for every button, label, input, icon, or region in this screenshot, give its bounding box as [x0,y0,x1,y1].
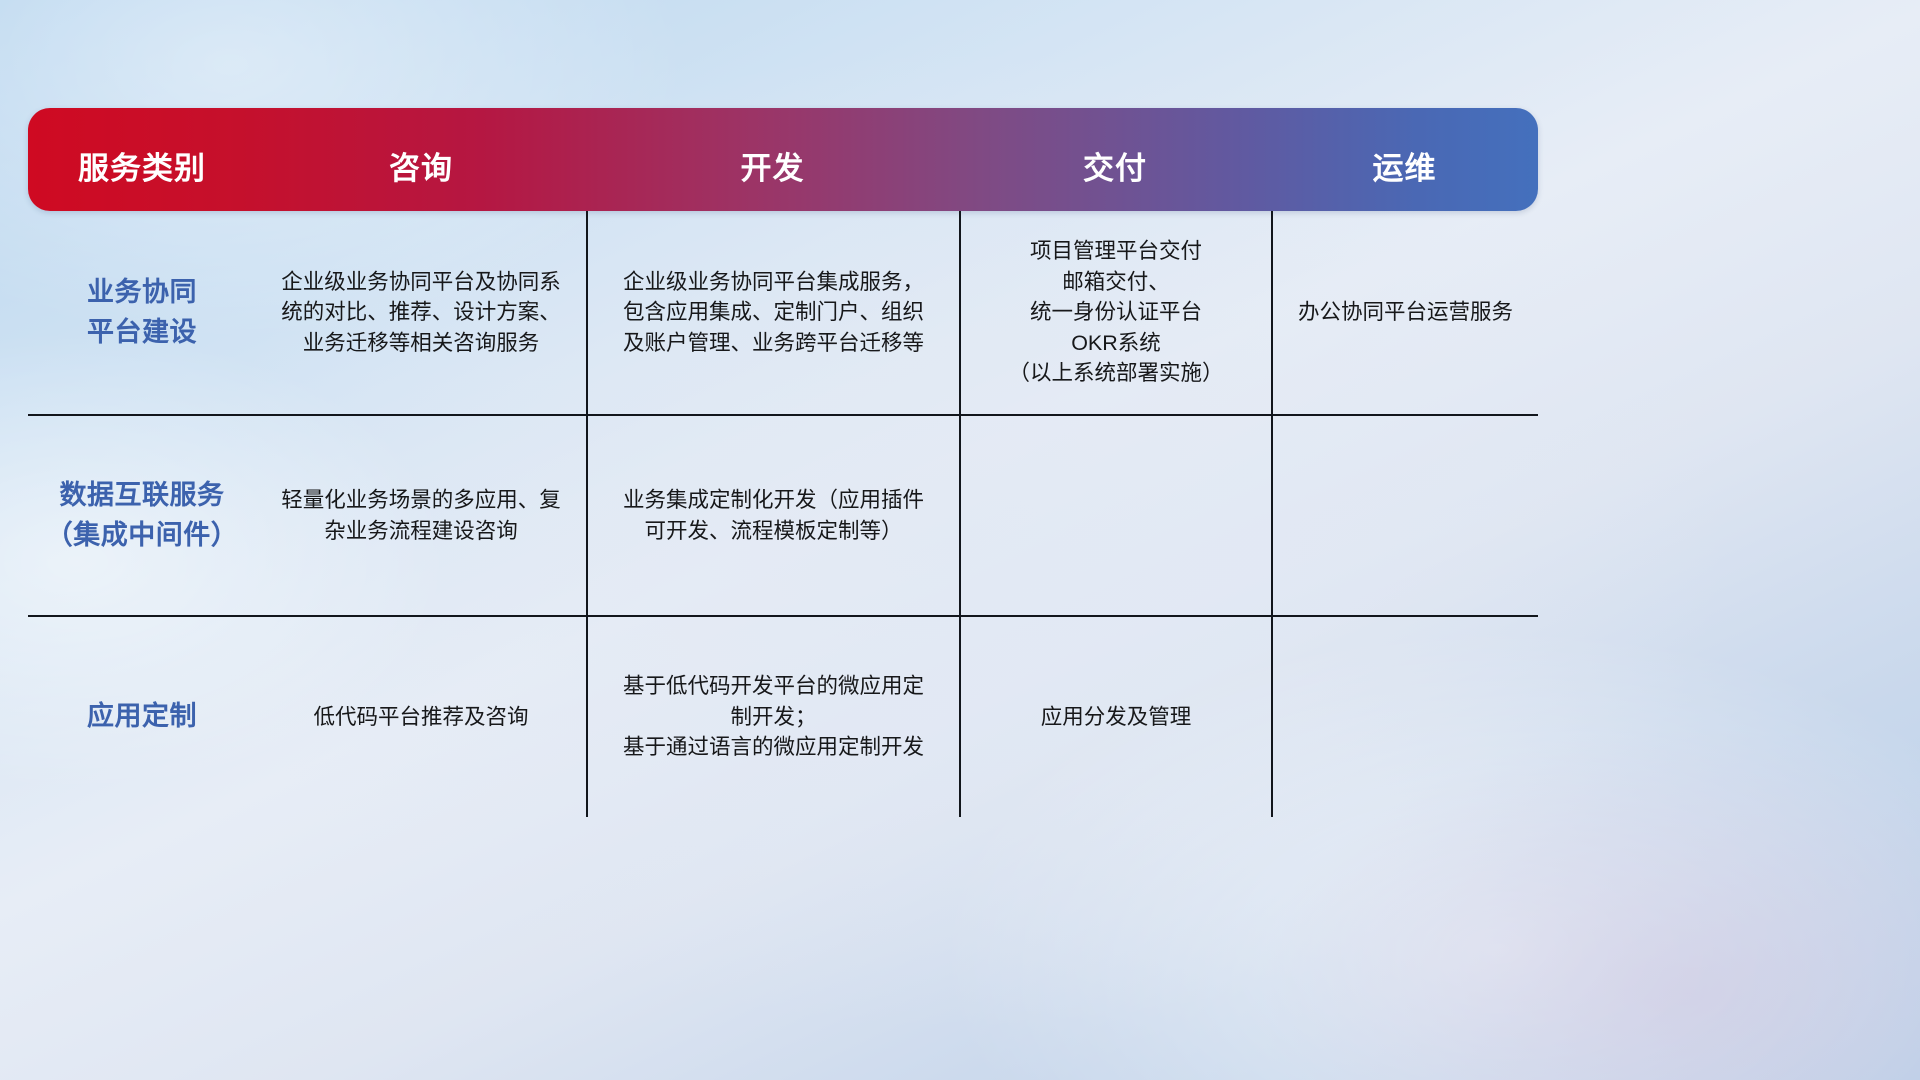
row-label: 业务协同 平台建设 [87,273,197,351]
table-row: 业务协同 平台建设 企业级业务协同平台及协同系 统的对比、推荐、设计方案、 业务… [28,211,1538,414]
cell-operations [1271,414,1538,615]
cell-development: 基于低代码开发平台的微应用定 制开发； 基于通过语言的微应用定制开发 [586,615,959,817]
cell-text: 企业级业务协同平台及协同系 统的对比、推荐、设计方案、 业务迁移等相关咨询服务 [281,267,561,359]
row-label: 应用定制 [87,697,197,736]
cell-delivery [959,414,1271,615]
table-row: 数据互联服务 （集成中间件） 轻量化业务场景的多应用、复 杂业务流程建设咨询 业… [28,414,1538,615]
row-label: 数据互联服务 （集成中间件） [46,476,239,554]
row-label-cell: 应用定制 [28,615,256,817]
cell-text: 办公协同平台运营服务 [1298,297,1513,328]
cell-delivery: 项目管理平台交付 邮箱交付、 统一身份认证平台 OKR系统 （以上系统部署实施） [959,211,1271,414]
table-header-row: 服务类别 咨询 开发 交付 运维 [28,108,1538,211]
cell-consulting: 轻量化业务场景的多应用、复 杂业务流程建设咨询 [256,414,586,615]
cell-text: 应用分发及管理 [1041,702,1192,733]
cell-operations [1271,615,1538,817]
cell-text: 基于低代码开发平台的微应用定 制开发； 基于通过语言的微应用定制开发 [623,671,924,763]
cell-text: 低代码平台推荐及咨询 [313,702,528,733]
row-label-cell: 业务协同 平台建设 [28,211,256,414]
header-service-category: 服务类别 [28,143,256,211]
header-development: 开发 [586,143,959,211]
header-consulting: 咨询 [256,143,586,211]
cell-development: 企业级业务协同平台集成服务， 包含应用集成、定制门户、组织 及账户管理、业务跨平… [586,211,959,414]
cell-text: 业务集成定制化开发（应用插件 可开发、流程模板定制等） [623,485,924,546]
row-label-cell: 数据互联服务 （集成中间件） [28,414,256,615]
table-body: 业务协同 平台建设 企业级业务协同平台及协同系 统的对比、推荐、设计方案、 业务… [28,211,1538,817]
cell-consulting: 低代码平台推荐及咨询 [256,615,586,817]
header-delivery: 交付 [959,143,1271,211]
cell-text: 项目管理平台交付 邮箱交付、 统一身份认证平台 OKR系统 （以上系统部署实施） [1008,236,1223,389]
service-matrix-table: 服务类别 咨询 开发 交付 运维 业务协同 平台建设 企业级业务协同平台及协同系… [28,108,1538,817]
table-row: 应用定制 低代码平台推荐及咨询 基于低代码开发平台的微应用定 制开发； 基于通过… [28,615,1538,817]
cell-operations: 办公协同平台运营服务 [1271,211,1538,414]
cell-text: 轻量化业务场景的多应用、复 杂业务流程建设咨询 [281,485,561,546]
header-operations: 运维 [1271,143,1538,211]
cell-text: 企业级业务协同平台集成服务， 包含应用集成、定制门户、组织 及账户管理、业务跨平… [623,267,924,359]
cell-development: 业务集成定制化开发（应用插件 可开发、流程模板定制等） [586,414,959,615]
cell-delivery: 应用分发及管理 [959,615,1271,817]
cell-consulting: 企业级业务协同平台及协同系 统的对比、推荐、设计方案、 业务迁移等相关咨询服务 [256,211,586,414]
